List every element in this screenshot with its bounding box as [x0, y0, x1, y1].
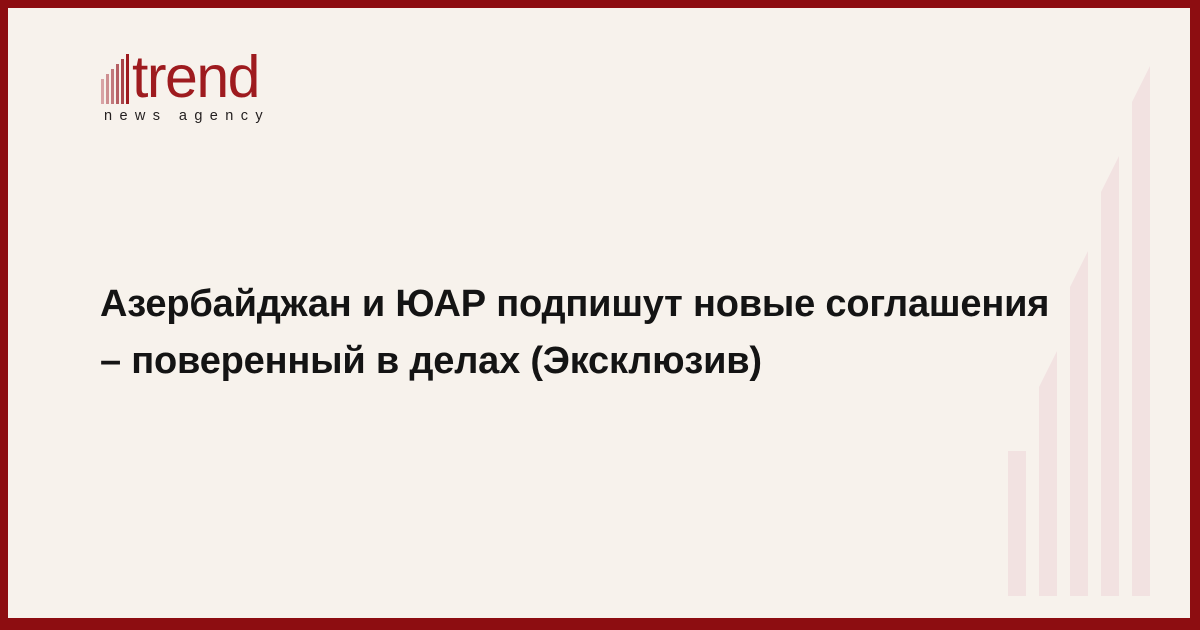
headline-line-2: – поверенный в делах (Эксклюзив) [100, 333, 1100, 390]
watermark-bar-5 [1132, 66, 1150, 596]
news-share-card: trend news agency Азербайджан и ЮАР подп… [0, 0, 1200, 630]
logo-bar-5 [121, 59, 124, 104]
logo-bar-3 [111, 69, 114, 104]
card-canvas: trend news agency Азербайджан и ЮАР подп… [8, 8, 1190, 618]
rising-bars-icon [101, 54, 135, 104]
page-title: Азербайджан и ЮАР подпишут новые соглаше… [100, 276, 1100, 390]
logo-bar-2 [106, 74, 109, 104]
logo-bar-6 [126, 54, 129, 104]
logo-bar-1 [101, 79, 104, 104]
watermark-bar-4 [1101, 156, 1119, 596]
headline-line-1: Азербайджан и ЮАР подпишут новые соглаше… [100, 276, 1100, 333]
logo-tagline: news agency [104, 108, 270, 124]
trend-logo[interactable]: trend news agency [96, 44, 396, 140]
watermark-bar-1 [1008, 451, 1026, 596]
logo-bar-4 [116, 64, 119, 104]
logo-wordmark: trend [132, 44, 259, 110]
